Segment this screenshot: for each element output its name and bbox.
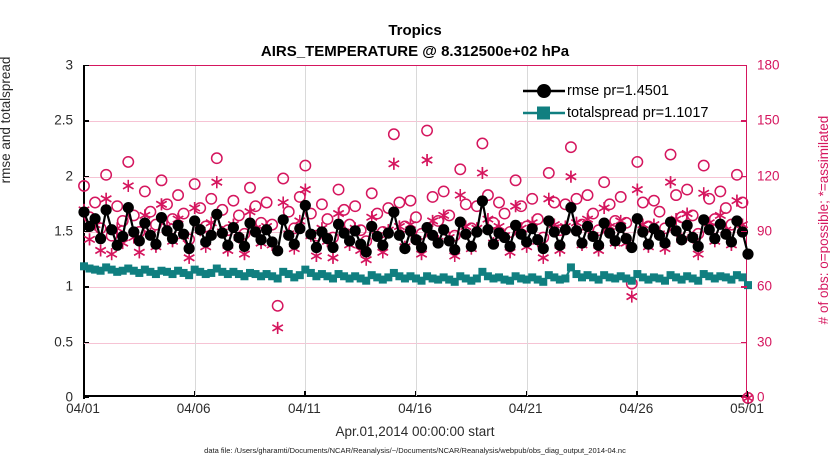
rmse-marker — [300, 200, 311, 211]
assimilated-obs-marker — [599, 202, 609, 214]
rmse-marker — [195, 224, 206, 235]
chart-root: Tropics AIRS_TEMPERATURE @ 8.312500e+02 … — [0, 0, 830, 470]
possible-obs-marker — [715, 186, 725, 196]
rmse-marker — [239, 241, 250, 252]
possible-obs-marker — [499, 208, 509, 218]
x-axis-tick-label: 04/26 — [619, 401, 653, 416]
possible-obs-marker — [272, 301, 282, 311]
assimilated-obs-marker — [422, 154, 432, 166]
rmse-marker — [731, 215, 742, 226]
possible-obs-marker — [510, 175, 520, 185]
rmse-marker — [521, 236, 532, 247]
rmse-marker — [117, 231, 128, 242]
rmse-marker — [139, 218, 150, 229]
rmse-marker — [549, 226, 560, 237]
rmse-marker — [554, 240, 565, 251]
possible-obs-marker — [212, 153, 222, 163]
possible-obs-marker — [494, 197, 504, 207]
rmse-marker — [565, 202, 576, 213]
possible-obs-marker — [145, 207, 155, 217]
possible-obs-marker — [350, 201, 360, 211]
page-subtitle: AIRS_TEMPERATURE @ 8.312500e+02 hPa — [0, 43, 830, 60]
possible-obs-marker — [604, 199, 614, 209]
possible-obs-marker — [405, 195, 415, 205]
rmse-legend-symbol — [521, 81, 567, 101]
possible-obs-marker — [101, 170, 111, 180]
possible-obs-marker — [654, 207, 664, 217]
possible-obs-marker — [638, 197, 648, 207]
rmse-marker — [682, 220, 693, 231]
x-axis-tick-label: 04/21 — [509, 401, 543, 416]
y-axis-right-tick-label: 0 — [757, 390, 817, 405]
x-axis-tickmark — [415, 391, 416, 397]
possible-obs-marker — [461, 199, 471, 209]
rmse-marker — [361, 246, 372, 257]
possible-obs-marker — [455, 164, 465, 174]
y-axis-left-tick-label: 1 — [13, 279, 73, 294]
y-axis-right-tickmark — [741, 231, 747, 232]
x-axis-tick-label: 04/01 — [66, 401, 100, 416]
rmse-marker — [676, 234, 687, 245]
rmse-marker — [344, 235, 355, 246]
rmse-marker — [560, 224, 571, 235]
possible-obs-marker — [721, 203, 731, 213]
rmse-marker — [433, 237, 444, 248]
possible-obs-marker — [90, 197, 100, 207]
x-axis-tick-label: 05/01 — [730, 401, 764, 416]
rmse-marker — [95, 233, 106, 244]
rmse-marker — [150, 239, 161, 250]
possible-obs-marker — [549, 197, 559, 207]
legend: rmse pr=1.4501 totalspread pr=1.1017 — [517, 78, 712, 126]
y-axis-left-label: rmse and totalspread — [0, 10, 13, 230]
assimilated-obs-marker — [333, 208, 343, 220]
legend-item-rmse: rmse pr=1.4501 — [521, 80, 708, 102]
rmse-marker — [726, 236, 737, 247]
possible-obs-marker — [206, 194, 216, 204]
possible-obs-marker — [261, 197, 271, 207]
possible-obs-marker — [527, 194, 537, 204]
y-axis-right-tick-label: 120 — [757, 168, 817, 183]
y-axis-right-tick-label: 30 — [757, 334, 817, 349]
possible-obs-marker — [228, 195, 238, 205]
assimilated-obs-marker — [212, 176, 222, 188]
totalspread-marker — [738, 273, 746, 281]
possible-obs-marker — [444, 210, 454, 220]
rmse-marker — [388, 206, 399, 217]
rmse-marker — [278, 214, 289, 225]
y-axis-left-tick-label: 0.5 — [13, 334, 73, 349]
assimilated-obs-marker — [632, 184, 642, 196]
possible-obs-marker — [156, 175, 166, 185]
rmse-marker — [593, 240, 604, 251]
y-axis-right-label: # of obs: o=possible; *=assimilated — [816, 55, 830, 385]
rmse-marker — [466, 241, 477, 252]
totalspread-marker — [561, 274, 569, 282]
possible-obs-marker — [582, 190, 592, 200]
possible-obs-marker — [566, 142, 576, 152]
y-axis-left-tickmark — [83, 286, 89, 287]
rmse-marker — [272, 245, 283, 256]
y-axis-left-tick-label: 2.5 — [13, 113, 73, 128]
possible-obs-marker — [112, 201, 122, 211]
rmse-marker — [527, 223, 538, 234]
possible-obs-marker — [671, 190, 681, 200]
rmse-marker — [504, 241, 515, 252]
rmse-marker — [311, 242, 322, 253]
rmse-marker — [438, 224, 449, 235]
assimilated-obs-marker — [682, 208, 692, 220]
possible-obs-marker — [140, 186, 150, 196]
possible-obs-marker — [173, 190, 183, 200]
possible-obs-marker — [699, 160, 709, 170]
y-axis-right-tickmark — [741, 65, 747, 66]
rmse-marker — [255, 234, 266, 245]
assimilated-obs-marker — [300, 184, 310, 196]
rmse-marker — [637, 226, 648, 237]
rmse-marker — [576, 237, 587, 248]
possible-obs-marker — [516, 201, 526, 211]
x-axis-tick-label: 04/06 — [177, 401, 211, 416]
legend-label-totalspread: totalspread pr=1.1017 — [567, 105, 708, 121]
rmse-marker — [582, 221, 593, 232]
rmse-marker — [123, 202, 134, 213]
possible-obs-marker — [278, 173, 288, 183]
assimilated-obs-marker — [84, 233, 94, 245]
possible-obs-marker — [79, 181, 89, 191]
page-title: Tropics — [0, 22, 830, 39]
rmse-marker — [222, 240, 233, 251]
possible-obs-marker — [234, 210, 244, 220]
y-axis-right-tick-label: 90 — [757, 224, 817, 239]
rmse-marker — [482, 224, 493, 235]
possible-obs-marker — [438, 186, 448, 196]
x-axis-tickmark — [83, 391, 84, 397]
rmse-marker — [101, 204, 112, 215]
totalspread-legend-symbol — [521, 103, 567, 123]
rmse-marker — [693, 241, 704, 252]
rmse-marker — [106, 224, 117, 235]
rmse-marker — [261, 224, 272, 235]
possible-obs-marker — [162, 199, 172, 209]
y-axis-left-tickmark — [83, 176, 89, 177]
y-axis-left-tick-label: 1.5 — [13, 224, 73, 239]
assimilated-obs-marker — [544, 193, 554, 205]
y-axis-right-tick-label: 180 — [757, 58, 817, 73]
data-file-note: data file: /Users/gharamti/Documents/NCA… — [0, 446, 830, 455]
y-axis-left-tickmark — [83, 342, 89, 343]
assimilated-obs-marker — [95, 244, 105, 256]
y-axis-right-tickmark — [741, 342, 747, 343]
x-axis-tickmark — [526, 391, 527, 397]
x-axis-tickmark — [636, 391, 637, 397]
rmse-marker — [643, 239, 654, 250]
x-axis-tickmark — [747, 391, 748, 397]
rmse-marker — [455, 216, 466, 227]
y-axis-right-tickmark — [741, 120, 747, 121]
rmse-marker — [184, 243, 195, 254]
possible-obs-marker — [544, 168, 554, 178]
rmse-marker — [327, 242, 338, 253]
y-axis-left-tickmark — [83, 231, 89, 232]
rmse-marker — [626, 242, 637, 253]
rmse-marker — [399, 243, 410, 254]
y-axis-right-tick-label: 150 — [757, 113, 817, 128]
rmse-marker — [167, 233, 178, 244]
rmse-marker — [350, 225, 361, 236]
rmse-marker — [538, 243, 549, 254]
rmse-marker — [217, 228, 228, 239]
rmse-marker — [571, 225, 582, 236]
possible-obs-marker — [123, 157, 133, 167]
possible-obs-marker — [616, 192, 626, 202]
rmse-marker — [89, 213, 100, 224]
y-axis-left-tick-label: 0 — [13, 390, 73, 405]
possible-obs-marker — [394, 197, 404, 207]
x-axis-tick-label: 04/11 — [288, 401, 321, 416]
assimilated-obs-marker — [123, 180, 133, 192]
assimilated-obs-marker — [477, 167, 487, 179]
rmse-marker — [228, 222, 239, 233]
possible-obs-marker — [367, 188, 377, 198]
possible-obs-marker — [189, 179, 199, 189]
rmse-marker — [178, 229, 189, 240]
x-axis-label: Apr.01,2014 00:00:00 start — [83, 424, 747, 439]
rmse-marker — [416, 242, 427, 253]
rmse-marker — [659, 237, 670, 248]
rmse-marker — [294, 223, 305, 234]
rmse-marker — [206, 230, 217, 241]
rmse-marker — [709, 233, 720, 244]
possible-obs-marker — [599, 177, 609, 187]
y-axis-left-tickmark — [83, 65, 89, 66]
possible-obs-marker — [665, 149, 675, 159]
assimilated-obs-marker — [101, 193, 111, 205]
y-axis-left-tick-label: 3 — [13, 58, 73, 73]
x-axis-tick-label: 04/16 — [398, 401, 432, 416]
rmse-marker — [599, 218, 610, 229]
possible-obs-marker — [317, 199, 327, 209]
rmse-marker — [156, 212, 167, 223]
assimilated-obs-marker — [732, 195, 742, 207]
possible-obs-marker — [477, 138, 487, 148]
possible-obs-marker — [411, 212, 421, 222]
rmse-marker — [78, 206, 89, 217]
possible-obs-marker — [245, 183, 255, 193]
rmse-marker — [460, 229, 471, 240]
rmse-marker — [471, 226, 482, 237]
rmse-marker — [383, 228, 394, 239]
totalspread-marker — [744, 281, 752, 289]
y-axis-left-tickmark — [83, 397, 89, 398]
rmse-marker — [377, 240, 388, 251]
y-axis-right-tickmark — [741, 176, 747, 177]
assimilated-obs-marker — [566, 171, 576, 183]
possible-obs-marker — [195, 203, 205, 213]
rmse-marker — [715, 219, 726, 230]
rmse-marker — [698, 214, 709, 225]
rmse-marker — [394, 230, 405, 241]
assimilated-obs-marker — [328, 252, 338, 264]
assimilated-obs-marker — [665, 176, 675, 188]
y-axis-left-tickmark — [83, 120, 89, 121]
assimilated-obs-marker — [389, 158, 399, 170]
y-axis-left-tick-label: 2 — [13, 168, 73, 183]
y-axis-right-tickmark — [741, 286, 747, 287]
rmse-marker — [305, 229, 316, 240]
rmse-marker — [477, 195, 488, 206]
x-axis-tickmark — [304, 391, 305, 397]
possible-obs-marker — [533, 214, 543, 224]
assimilated-obs-marker — [272, 322, 282, 334]
rmse-marker — [742, 249, 753, 260]
possible-obs-marker — [339, 205, 349, 215]
possible-obs-marker — [422, 125, 432, 135]
possible-obs-marker — [389, 129, 399, 139]
rmse-marker — [543, 215, 554, 226]
rmse-marker — [366, 221, 377, 232]
rmse-marker — [615, 222, 626, 233]
rmse-marker — [449, 244, 460, 255]
possible-obs-marker — [333, 184, 343, 194]
rmse-marker — [610, 235, 621, 246]
x-axis-tickmark — [194, 391, 195, 397]
assimilated-obs-marker — [134, 246, 144, 258]
possible-obs-marker — [682, 184, 692, 194]
possible-obs-marker — [322, 214, 332, 224]
possible-obs-marker — [372, 208, 382, 218]
rmse-marker — [211, 209, 222, 220]
possible-obs-marker — [300, 160, 310, 170]
possible-obs-marker — [632, 157, 642, 167]
y-axis-right-tick-label: 60 — [757, 279, 817, 294]
y-axis-right-tickmark — [741, 397, 747, 398]
rmse-marker — [488, 239, 499, 250]
possible-obs-marker — [427, 192, 437, 202]
rmse-marker — [632, 213, 643, 224]
assimilated-obs-marker — [627, 291, 637, 303]
legend-item-totalspread: totalspread pr=1.1017 — [521, 102, 708, 124]
rmse-marker — [134, 235, 145, 246]
rmse-marker — [289, 239, 300, 250]
possible-obs-marker — [649, 195, 659, 205]
legend-label-rmse: rmse pr=1.4501 — [567, 83, 669, 99]
